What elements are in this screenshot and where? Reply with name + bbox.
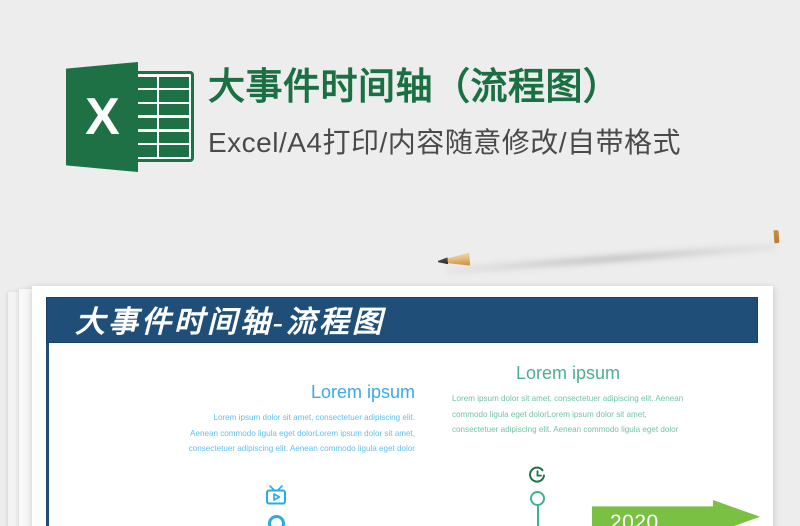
excel-cell <box>159 132 188 143</box>
timeline-node-green-stem <box>537 505 540 526</box>
document-title-banner: 大事件时间轴-流程图 <box>46 297 758 343</box>
excel-logo-icon: X <box>66 62 196 172</box>
lorem-block-green: Lorem ipsum Lorem ipsum dolor sit amet, … <box>452 364 684 438</box>
excel-cell <box>159 145 188 156</box>
lorem-heading-blue: Lorem ipsum <box>187 383 415 403</box>
year-arrow-2020: 2020 <box>592 500 760 526</box>
document-title: 大事件时间轴-流程图 <box>75 297 385 341</box>
clock-icon <box>528 466 547 485</box>
lorem-heading-green: Lorem ipsum <box>452 364 684 384</box>
excel-cell <box>159 90 188 101</box>
pencil-illustration <box>437 218 784 283</box>
document-preview-stack[interactable]: 大事件时间轴-流程图 Lorem ipsum Lorem ipsum dolor… <box>8 286 778 526</box>
page-subtitle: Excel/A4打印/内容随意修改/自带格式 <box>208 126 800 160</box>
lorem-body-blue: Lorem ipsum dolor sit amet, consectetuer… <box>187 410 415 457</box>
pencil-graphite-tip <box>438 257 448 265</box>
excel-cell <box>159 77 188 88</box>
arrow-year-label: 2020 <box>610 511 659 526</box>
excel-cell <box>159 118 188 129</box>
pencil-end-cap <box>774 230 780 243</box>
header-banner: X 大事件时间轴（流程图） Excel/A4打印/内容随意修改/自带格式 <box>0 0 800 210</box>
screenshot-canvas: X 大事件时间轴（流程图） Excel/A4打印/内容随意修改/自带格式 大事件… <box>0 0 800 526</box>
timeline-node-blue <box>268 515 285 526</box>
excel-cell <box>159 104 188 115</box>
lorem-block-blue: Lorem ipsum Lorem ipsum dolor sit amet, … <box>187 383 415 457</box>
page-title: 大事件时间轴（流程图） <box>208 66 800 109</box>
timeline-node-green <box>530 491 545 506</box>
lorem-body-green: Lorem ipsum dolor sit amet, consectetuer… <box>452 391 684 438</box>
brand-text-group: 大事件时间轴（流程图） Excel/A4打印/内容随意修改/自带格式 <box>208 66 800 159</box>
document-page[interactable]: 大事件时间轴-流程图 Lorem ipsum Lorem ipsum dolor… <box>32 286 773 526</box>
excel-letter-x: X <box>66 62 138 172</box>
tv-play-icon <box>264 485 288 505</box>
